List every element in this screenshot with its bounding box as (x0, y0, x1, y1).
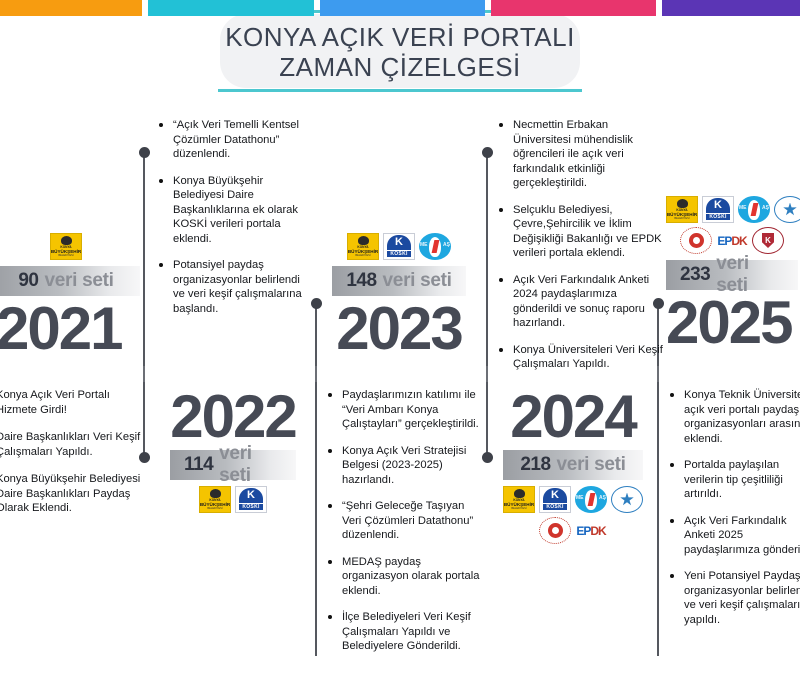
seal-icon (689, 233, 704, 248)
dataset-count-2021: 90 (18, 270, 38, 292)
connector-line-2023c (315, 382, 317, 656)
flame-icon (748, 200, 760, 220)
dataset-label-2021: veri seti (45, 270, 114, 292)
koski-logo: K KOSKİ (539, 486, 571, 513)
page-title: KONYA AÇIK VERİ PORTALI ZAMAN ÇİZELGESİ (178, 22, 622, 82)
logo-group-2022: KONYA BÜYÜKŞEHİR BELEDİYESİ K KOSKİ (170, 486, 296, 513)
year-label-2022: 2022 (170, 386, 296, 448)
connector-dot-2023 (311, 298, 322, 309)
logo-group-2023: KONYA BÜYÜKŞEHİR BELEDİYESİ K KOSKİ ME A… (332, 233, 466, 260)
dataset-badge-2021: 90 veri seti (0, 266, 140, 296)
list-item: Konya Büyükşehir Belediyesi Daire Başkan… (157, 174, 307, 247)
cevre-sehircilik-bakanligi-logo (680, 227, 712, 254)
selcuklu-belediyesi-logo (611, 486, 643, 513)
bar-segment-2022 (148, 0, 314, 16)
arch-icon: K (387, 235, 411, 250)
year-label-2021: 2021 (0, 298, 140, 360)
timeline-infographic: KONYA AÇIK VERİ PORTALI ZAMAN ÇİZELGESİ (0, 0, 800, 700)
dataset-count-2023: 148 (346, 270, 376, 292)
title-line-2: ZAMAN ÇİZELGESİ (178, 52, 622, 82)
title-banner: KONYA AÇIK VERİ PORTALI ZAMAN ÇİZELGESİ (178, 8, 622, 94)
crest-icon (677, 199, 688, 208)
connector-line-2023 (315, 304, 317, 366)
connector-line-2021 (143, 152, 145, 366)
title-line-1: KONYA AÇIK VERİ PORTALI (225, 22, 575, 52)
bar-segment-2024 (491, 0, 656, 16)
list-item: Konya Açık Veri Stratejisi Belgesi (2023… (326, 444, 484, 488)
list-item: “Şehri Geleceğe Taşıyan Veri Çözümleri D… (326, 499, 484, 543)
list-item: MEDAŞ paydaş organizasyon olarak portala… (326, 555, 484, 599)
konya-buyuksehir-belediyesi-logo: KONYA BÜYÜKŞEHİR BELEDİYESİ (199, 486, 231, 513)
cevre-sehircilik-bakanligi-logo (539, 517, 571, 544)
medas-logo: ME AŞ (738, 196, 770, 223)
title-rule-bottom (218, 89, 582, 92)
year-block-2024: 2024 218 veri seti KONYA BÜYÜKŞEHİR BELE… (503, 386, 643, 544)
list-item: Selçuklu Belediyesi, Çevre,Şehircilik ve… (497, 203, 665, 261)
arch-icon: K (706, 198, 730, 213)
connector-line-2024 (486, 382, 488, 456)
bullet-list-2025: Konya Teknik Üniversitesi açık veri port… (668, 388, 800, 639)
seal-icon (548, 523, 563, 538)
logo-group-2025: KONYA BÜYÜKŞEHİR BELEDİYESİ K KOSKİ ME A… (666, 196, 800, 254)
list-item: Açık Veri Farkındalık Anketi 2024 paydaş… (497, 273, 665, 331)
medas-logo: ME AŞ (419, 233, 451, 260)
dataset-badge-2022: 114 veri seti (170, 450, 296, 480)
year-label-2024: 2024 (503, 386, 643, 448)
crest-icon (61, 236, 72, 245)
dataset-label-2022: veri seti (219, 443, 282, 487)
year-block-2025: KONYA BÜYÜKŞEHİR BELEDİYESİ K KOSKİ ME A… (666, 196, 800, 354)
list-item: Necmettin Erbakan Üniversitesi mühendisl… (497, 118, 665, 191)
year-block-2022: 2022 114 veri seti KONYA BÜYÜKŞEHİR BELE… (170, 386, 296, 513)
text-list-2022: Konya Açık Veri Portalı Hizmete Girdi! D… (0, 388, 146, 529)
year-label-2025: 2025 (666, 292, 800, 354)
bar-segment-2021 (0, 0, 142, 16)
list-item: Açık Veri Farkındalık Anketi 2025 paydaş… (668, 514, 800, 558)
bullet-list-2024: Necmettin Erbakan Üniversitesi mühendisl… (497, 118, 665, 384)
arch-icon: K (239, 488, 263, 503)
dataset-badge-2024: 218 veri seti (503, 450, 643, 480)
crest-icon (210, 489, 221, 498)
konya-buyuksehir-belediyesi-logo: KONYA BÜYÜKŞEHİR BELEDİYESİ (503, 486, 535, 513)
list-item: Konya Büyükşehir Belediyesi Daire Başkan… (0, 472, 146, 516)
connector-line-2025b (657, 382, 659, 656)
bar-segment-2025 (662, 0, 800, 16)
crest-icon (358, 236, 369, 245)
list-item: “Açık Veri Temelli Kentsel Çözümler Data… (157, 118, 307, 162)
list-item: Daire Başkanlıkları Veri Keşif Çalışmala… (0, 430, 146, 459)
list-item: Konya Açık Veri Portalı Hizmete Girdi! (0, 388, 146, 417)
list-item: Yeni Potansiyel Paydaş organizasyonlar b… (668, 569, 800, 627)
dataset-count-2025: 233 (680, 264, 710, 286)
konya-teknik-universitesi-logo: K (752, 227, 784, 254)
bullet-list-2021: “Açık Veri Temelli Kentsel Çözümler Data… (157, 118, 307, 328)
koski-logo: K KOSKİ (383, 233, 415, 260)
selcuklu-belediyesi-logo (774, 196, 800, 223)
logo-group-2024: KONYA BÜYÜKŞEHİR BELEDİYESİ K KOSKİ ME A… (503, 486, 643, 544)
dataset-count-2022: 114 (184, 454, 213, 476)
shield-icon: K (762, 233, 774, 248)
list-item: Konya Teknik Üniversitesi açık veri port… (668, 388, 800, 446)
dataset-badge-2023: 148 veri seti (332, 266, 466, 296)
konya-buyuksehir-belediyesi-logo: KONYA BÜYÜKŞEHİR BELEDİYESİ (347, 233, 379, 260)
flame-icon (429, 237, 441, 257)
konya-buyuksehir-belediyesi-logo: KONYA BÜYÜKŞEHİR BELEDİYESİ (666, 196, 698, 223)
star-icon (620, 493, 634, 507)
list-item: İlçe Belediyeleri Veri Keşif Çalışmaları… (326, 610, 484, 654)
dataset-label-2025: veri seti (716, 253, 784, 297)
koski-logo: K KOSKİ (235, 486, 267, 513)
list-item: Portalda paylaşılan verilerin tip çeşitl… (668, 458, 800, 502)
konya-buyuksehir-belediyesi-logo: KONYA BÜYÜKŞEHİR BELEDİYESİ (50, 233, 82, 260)
connector-dot-2023b (482, 147, 493, 158)
list-item: Potansiyel paydaş organizasyonlar belirl… (157, 258, 307, 316)
dataset-badge-2025: 233 veri seti (666, 260, 798, 290)
bar-segment-2023 (320, 0, 485, 16)
flame-icon (585, 490, 597, 510)
year-label-2023: 2023 (332, 298, 466, 360)
crest-icon (514, 489, 525, 498)
koski-logo: K KOSKİ (702, 196, 734, 223)
star-icon (783, 203, 797, 217)
connector-line-2023b (486, 152, 488, 366)
arch-icon: K (543, 488, 567, 503)
bullet-list-2023: Paydaşlarımızın katılımı ile “Veri Ambar… (326, 388, 484, 666)
year-block-2023: KONYA BÜYÜKŞEHİR BELEDİYESİ K KOSKİ ME A… (332, 233, 466, 360)
dataset-label-2024: veri seti (557, 454, 626, 476)
dataset-count-2024: 218 (520, 454, 550, 476)
medas-logo: ME AŞ (575, 486, 607, 513)
epdk-logo: EPDK (575, 517, 607, 544)
list-item: Konya Üniversiteleri Veri Keşif Çalışmal… (497, 343, 665, 372)
epdk-logo: EPDK (716, 227, 748, 254)
connector-dot-2021 (139, 147, 150, 158)
year-block-2021: KONYA BÜYÜKŞEHİR BELEDİYESİ 90 veri seti… (0, 233, 140, 360)
dataset-label-2023: veri seti (383, 270, 452, 292)
list-item: Paydaşlarımızın katılımı ile “Veri Ambar… (326, 388, 484, 432)
logo-group-2021: KONYA BÜYÜKŞEHİR BELEDİYESİ (0, 233, 140, 260)
